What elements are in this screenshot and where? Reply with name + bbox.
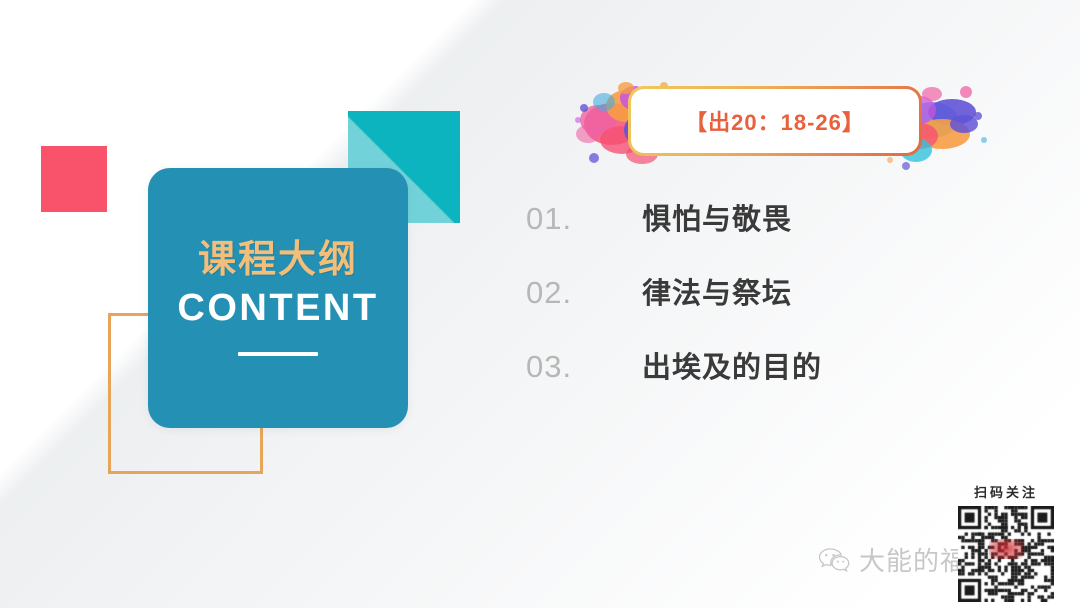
content-card-underline	[238, 352, 318, 356]
qr-code-image[interactable]	[958, 506, 1054, 602]
outline-item-label: 出埃及的目的	[642, 344, 822, 386]
outline-list: 01. 惧怕与敬畏 02. 律法与祭坛 03. 出埃及的目的	[526, 196, 956, 418]
content-card-title-en: CONTENT	[177, 288, 378, 330]
outline-item-number: 02.	[526, 275, 642, 311]
scripture-reference-text: 【出20：18-26】	[685, 105, 865, 137]
outline-item[interactable]: 01. 惧怕与敬畏	[526, 196, 956, 270]
outline-item-number: 03.	[526, 349, 642, 385]
outline-item[interactable]: 03. 出埃及的目的	[526, 344, 956, 418]
wechat-icon	[818, 547, 852, 573]
outline-item-label: 惧怕与敬畏	[642, 196, 792, 238]
decor-red-square	[41, 146, 107, 212]
header-banner-group: 【出20：18-26】	[560, 62, 990, 180]
content-card: 课程大纲 CONTENT	[148, 168, 408, 428]
qr-caption: 扫码关注	[974, 482, 1038, 501]
qr-code-block: 扫码关注	[942, 482, 1070, 602]
slide-canvas: 课程大纲 CONTENT	[0, 0, 1080, 608]
outline-item[interactable]: 02. 律法与祭坛	[526, 270, 956, 344]
outline-item-number: 01.	[526, 201, 642, 237]
content-card-title-cn: 课程大纲	[198, 240, 358, 282]
scripture-reference-banner: 【出20：18-26】	[628, 86, 922, 156]
outline-item-label: 律法与祭坛	[642, 270, 792, 312]
